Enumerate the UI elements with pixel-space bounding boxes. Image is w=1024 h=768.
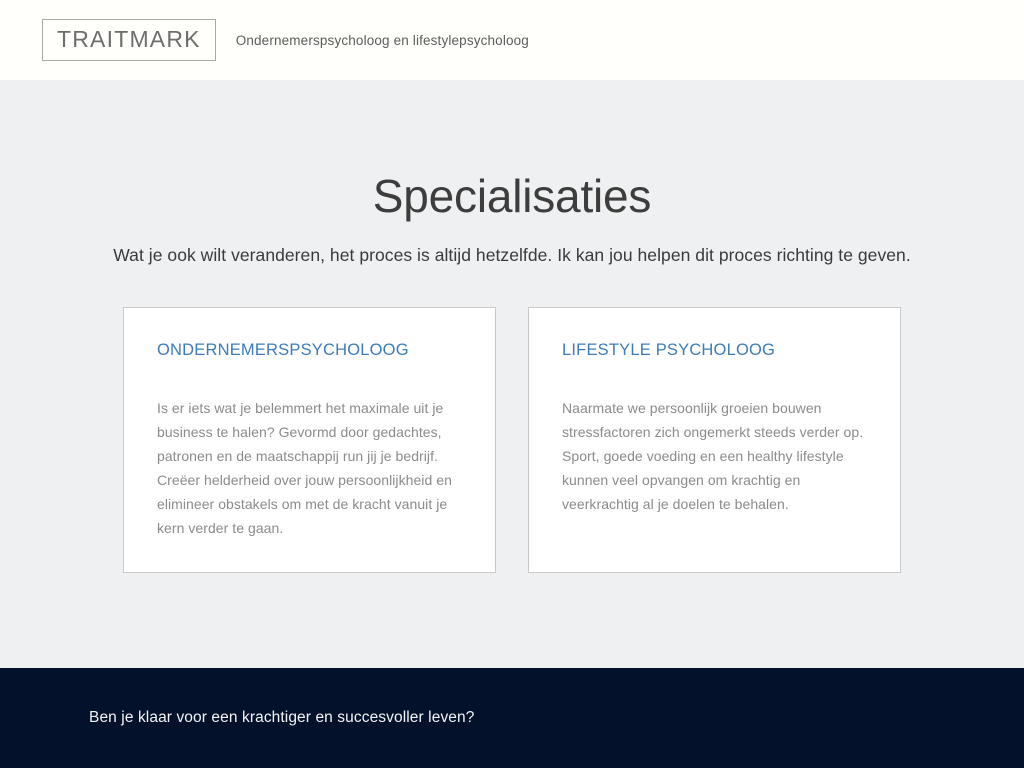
page-root: TRAITMARK Ondernemerspsycholoog en lifes… [0, 0, 1024, 768]
specialisation-card-ondernemerspsycholoog[interactable]: ONDERNEMERSPSYCHOLOOG Is er iets wat je … [123, 307, 496, 573]
card-title: ONDERNEMERSPSYCHOLOOG [157, 342, 463, 359]
cta-bar: Ben je klaar voor een krachtiger en succ… [0, 668, 1024, 768]
card-body: Is er iets wat je belemmert het maximale… [157, 396, 463, 540]
specialisation-card-list: ONDERNEMERSPSYCHOLOOG Is er iets wat je … [0, 307, 1024, 573]
page-title: Specialisaties [0, 80, 1024, 219]
logo[interactable]: TRAITMARK [42, 19, 216, 61]
card-title: LIFESTYLE PSYCHOLOOG [562, 342, 868, 359]
header-tagline: Ondernemerspsycholoog en lifestylepsycho… [236, 33, 529, 48]
logo-text: TRAITMARK [57, 28, 201, 51]
site-header: TRAITMARK Ondernemerspsycholoog en lifes… [0, 0, 1024, 80]
page-subtitle: Wat je ook wilt veranderen, het proces i… [0, 245, 1024, 266]
specialisation-card-lifestyle-psycholoog[interactable]: LIFESTYLE PSYCHOLOOG Naarmate we persoon… [528, 307, 901, 573]
main-content: Specialisaties Wat je ook wilt verandere… [0, 80, 1024, 668]
card-body: Naarmate we persoonlijk groeien bouwen s… [562, 396, 868, 516]
cta-text: Ben je klaar voor een krachtiger en succ… [89, 709, 474, 727]
